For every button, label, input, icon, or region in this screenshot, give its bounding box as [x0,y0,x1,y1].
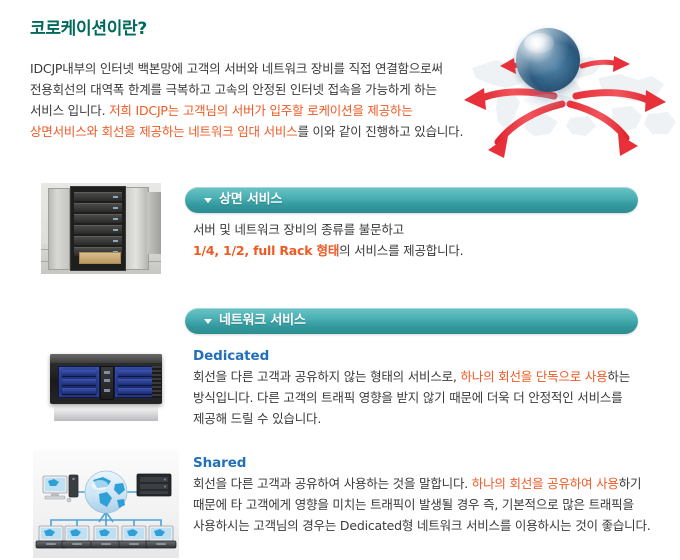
server-reflection [54,405,158,421]
rack-cabinet-left [48,188,70,270]
shared-line-1-highlight: 하나의 회선을 공유하여 사용 [472,476,619,491]
rack-unit [74,236,122,245]
drive-bay-right [114,366,156,398]
server-icon [137,474,171,496]
arrow-lower-right [570,104,638,156]
colocation-line-2: 1/4, 1/2, full Rack 형태의 서비스를 제공합니다. [193,240,663,261]
dedicated-line-1-plain: 회선을 다른 고객과 공유하지 않는 형태의 서비스로, [193,369,461,384]
server-rack-cabinet-photo [41,183,161,274]
section-bar-network-label: 네트워크 서비스 [219,308,306,334]
server-vent [152,366,161,398]
intro-line-3-plain: 서비스 입니다. [30,103,109,118]
section-body-dedicated: 회선을 다른 고객과 공유하지 않는 형태의 서비스로, 하나의 회선을 단독으… [193,366,663,429]
desktop-pc-icon [43,475,78,502]
server-control-panel [100,366,114,400]
subheading-shared: Shared [193,455,246,471]
section-bar-network[interactable]: 네트워크 서비스 [185,308,638,334]
laptop-icon [36,526,66,548]
shared-line-3: 사용하시는 고객님의 경우는 Dedicated형 네트워크 서비스를 이용하시… [193,515,663,536]
cardboard-box [79,252,121,264]
globe-reflection [520,94,576,110]
section-body-shared: 회선을 다른 고객과 공유하여 사용하는 것을 말합니다. 하나의 회선을 공유… [193,473,663,536]
intro-paragraph: IDCJP내부의 인터넷 백본망에 고객의 서버와 네트워크 장비를 직접 연결… [30,58,470,142]
intro-line-2: 전용회선의 대역폭 한계를 극복하고 고속의 안정된 인터넷 접속을 가능하게 … [30,79,470,100]
laptop-icon [146,526,176,548]
laptop-icon [91,526,121,548]
server-top-face [50,354,162,363]
dedicated-line-3: 제공해 드릴 수 있습니다. [193,408,663,429]
intro-line-1: IDCJP내부의 인터넷 백본망에 고객의 서버와 네트워크 장비를 직접 연결… [30,58,470,79]
laptop-row [36,526,176,548]
triangle-down-icon [204,319,212,324]
intro-line-4-highlight: 상면서비스와 회선을 제공하는 네트워크 임대 서비스 [30,124,297,139]
intro-line-3-highlight: 저희 IDCJP는 고객님의 서버가 입주할 로케이션을 제공하는 [109,103,413,118]
colocation-line-2-plain: 의 서비스를 제공합니다. [339,243,463,258]
rack-cabinet-right [125,187,149,270]
shared-line-1-tail: 하기 [619,476,642,491]
shared-line-1: 회선을 다른 고객과 공유하여 사용하는 것을 말합니다. 하나의 회선을 공유… [193,473,663,494]
rack-unit [74,214,122,223]
dedicated-line-1: 회선을 다른 고객과 공유하지 않는 형태의 서비스로, 하나의 회선을 단독으… [193,366,663,387]
intro-line-3: 서비스 입니다. 저희 IDCJP는 고객님의 서버가 입주할 로케이션을 제공… [30,100,470,121]
colocation-rack-types: 1/4, 1/2, full Rack 형태 [193,243,339,258]
shared-line-1-plain: 회선을 다른 고객과 공유하여 사용하는 것을 말합니다. [193,476,472,491]
rack-unit [74,203,122,212]
arrow-upper-right [582,56,630,72]
red-arrows-icon [462,8,680,170]
intro-line-4: 상면서비스와 회선을 제공하는 네트워크 임대 서비스를 이와 같이 진행하고 … [30,121,470,142]
rack-unit [74,192,122,201]
triangle-down-icon [204,198,212,203]
globe-icon [516,28,580,92]
dedicated-line-2: 방식입니다. 다른 고객의 트래픽 영향을 받지 않기 때문에 더욱 더 안정적… [193,387,663,408]
intro-line-4-plain: 를 이와 같이 진행하고 있습니다. [297,124,463,139]
rack-cabinet-open [70,186,126,271]
section-body-colocation: 서버 및 네트워크 장비의 종류를 불문하고 1/4, 1/2, full Ra… [193,219,663,261]
colocation-line-1: 서버 및 네트워크 장비의 종류를 불문하고 [193,219,663,240]
dedicated-line-1-highlight: 하나의 회선을 단독으로 사용 [461,369,608,384]
rackmount-server-photo [44,348,168,426]
rack-cabinet-far [147,192,161,254]
laptop-icon [119,526,149,548]
shared-line-2: 때문에 타 고객에게 영향을 미치는 트래픽이 발생될 경우 즉, 기본적으로 … [193,494,663,515]
section-bar-colocation-label: 상면 서비스 [219,187,282,213]
globe-icon [85,471,127,513]
dedicated-line-1-tail: 하는 [607,369,630,384]
laptop-icon [62,526,92,548]
hero-globe-graphic [462,8,680,170]
shared-network-topology-diagram [33,450,179,558]
arrow-lower-left [488,104,562,158]
rack-unit [74,225,122,234]
page-title: 코로케이션이란? [30,14,147,39]
subheading-dedicated: Dedicated [193,348,269,364]
drive-bay-left [58,366,100,398]
section-bar-colocation[interactable]: 상면 서비스 [185,187,638,213]
